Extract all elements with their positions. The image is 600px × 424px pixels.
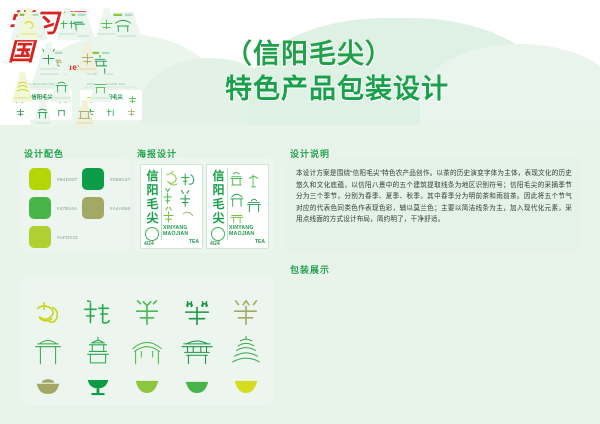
- seal-glyph-icon: [28, 297, 68, 331]
- color-swatch: [29, 226, 51, 248]
- title-line-1: （信阳毛尖）: [225, 38, 585, 70]
- palette-card: #B4D607 #0B9C47 #47B44A #A4A866 #AFD033: [20, 158, 130, 253]
- seal-glyph-icon: [226, 297, 266, 331]
- seal-glyph-icon: [177, 297, 217, 331]
- poster-divider: [227, 168, 228, 240]
- poster-en-line-2: MAOJIAN: [163, 231, 201, 237]
- tea-pouch-mockup[interactable]: [90, 8, 123, 41]
- poster-preview[interactable]: 信阳毛尖 4/24: [140, 164, 203, 249]
- tea-bowl-icon: [127, 369, 167, 403]
- swatch-item: #47B44A: [29, 197, 77, 219]
- pavilion-icon: [78, 333, 118, 367]
- poster-artwork-seal: [163, 168, 200, 226]
- swatch-hex-label: #B4D607: [57, 177, 78, 182]
- poster-date: 4/24: [210, 241, 220, 247]
- title-line-2: 特色产品包装设计: [225, 72, 585, 106]
- swatch-item: #A4A866: [82, 197, 130, 219]
- swatch-hex-label: #A4A866: [110, 206, 130, 211]
- tea-bowl-icon: [177, 369, 217, 403]
- tea-pouch-mockup[interactable]: [12, 8, 45, 41]
- poster-divider: [161, 168, 162, 240]
- poster-tea-label: TEA: [189, 239, 199, 245]
- tea-pouch-mockup[interactable]: [51, 8, 84, 41]
- gate-tower-icon: [28, 333, 68, 367]
- elements-row-architecture: [28, 332, 266, 368]
- swatch-hex-label: #AFD033: [57, 235, 78, 240]
- description-body: 本设计方案是围绕“信阳毛尖”特色农产品创作。以茶的历史演变字体为主体，表现文化的…: [296, 168, 572, 226]
- memorial-archway-icon: [177, 333, 217, 367]
- tea-bowl-icon: [78, 369, 118, 403]
- color-swatch: [29, 197, 51, 219]
- poster-circle-mark: [211, 227, 225, 241]
- color-swatch: [82, 168, 104, 190]
- poster-vertical-title: 信阳毛尖: [144, 169, 161, 225]
- elements-row-bowls: [28, 368, 266, 404]
- page-title: （信阳毛尖） 特色产品包装设计: [225, 38, 585, 106]
- poster-vertical-title: 信阳毛尖: [210, 169, 227, 225]
- tea-bowl-icon: [226, 369, 266, 403]
- description-card: 本设计方案是围绕“信阳毛尖”特色农产品创作。以茶的历史演变字体为主体，表现文化的…: [286, 158, 582, 253]
- poster-english-title: XINYANG MAOJIAN: [229, 225, 267, 238]
- swatch-hex-label: #47B44A: [57, 206, 77, 211]
- poster-page: 学习强国 xuexi.cn （信阳毛尖） 特色产品包装设计 设计配色 #B4D6…: [0, 0, 600, 424]
- seal-glyph-icon: [127, 297, 167, 331]
- seal-glyph-icon: [78, 297, 118, 331]
- swatch-item: #0B9C47: [82, 168, 131, 190]
- poster-preview[interactable]: 信阳毛尖 4/24: [206, 164, 269, 249]
- poster-en-line-2: MAOJIAN: [229, 231, 267, 237]
- color-swatch: [82, 197, 104, 219]
- poster-date: 4/24: [144, 241, 154, 247]
- pagoda-icon: [226, 333, 266, 367]
- swatch-hex-label: #0B9C47: [110, 177, 131, 182]
- tea-bowl-icon: [28, 369, 68, 403]
- poster-english-title: XINYANG MAOJIAN: [163, 225, 201, 238]
- swatch-item: #AFD033: [29, 226, 78, 248]
- poster-circle-mark: [145, 227, 159, 241]
- poster-card: 信阳毛尖 4/24: [134, 158, 274, 253]
- poster-tea-label: TEA: [255, 239, 265, 245]
- tea-pouch-mockup[interactable]: [68, 100, 101, 129]
- arch-bridge-icon: [127, 333, 167, 367]
- elements-card: [20, 276, 274, 406]
- elements-row-seal: [28, 296, 266, 332]
- packaging-section-title: 包装展示: [290, 263, 330, 276]
- swatch-item: #B4D607: [29, 168, 78, 190]
- poster-artwork-architecture: [229, 168, 266, 226]
- color-swatch: [29, 168, 51, 190]
- elements-grid: [28, 296, 266, 404]
- tea-pouch-mockup[interactable]: [26, 100, 59, 129]
